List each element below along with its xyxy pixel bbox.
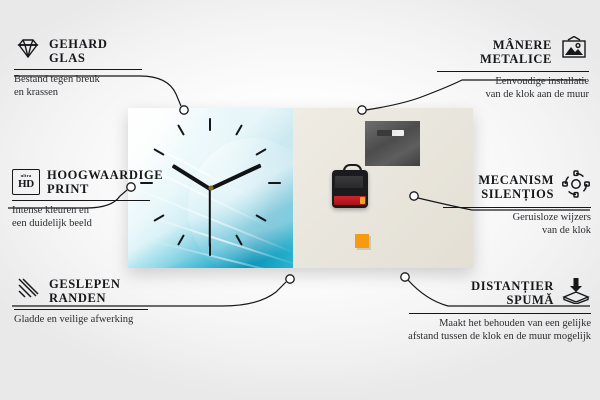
callout-desc-line1: Geruisloze wijzers	[391, 212, 591, 225]
battery-terminal	[360, 197, 365, 204]
callout-manere-metalice: MÂNERE METALICE Eenvoudige installatie v…	[389, 36, 589, 101]
ultra-hd-icon: ultra HD	[12, 169, 40, 195]
callout-gehard-glas: GEHARD GLAS Bestand tegen breuk en krass…	[14, 36, 189, 99]
foam-spacer	[355, 234, 369, 248]
hanger-slot	[377, 130, 404, 136]
callout-header: DISTANȚIER SPUMĂ	[361, 276, 591, 309]
movement-hook	[343, 164, 362, 175]
callout-header: ultra HD HOOGWAARDIGE PRINT	[12, 168, 197, 196]
callout-hoogwaardige-print: ultra HD HOOGWAARDIGE PRINT Intense kleu…	[12, 168, 197, 230]
callout-desc-line1: Maakt het behouden van een gelijke	[361, 318, 591, 331]
callout-title: GEHARD GLAS	[49, 37, 107, 65]
hour-tick	[268, 182, 281, 184]
clock-hub	[208, 186, 213, 191]
callout-header: MÂNERE METALICE	[389, 36, 589, 67]
metal-hanger-plate	[365, 121, 420, 166]
callout-desc-line1: Gladde en veilige afwerking	[14, 314, 204, 327]
hour-tick	[209, 118, 211, 131]
callout-desc-line2: afstand tussen de klok en de muur mogeli…	[361, 331, 591, 344]
callout-desc-line2: en krassen	[14, 87, 189, 100]
callout-rule	[12, 200, 150, 201]
hour-tick	[177, 234, 185, 245]
movement-label	[335, 176, 363, 188]
infographic-canvas: GEHARD GLAS Bestand tegen breuk en krass…	[0, 0, 600, 400]
clock-movement	[332, 170, 368, 208]
callout-geslepen-randen: GESLEPEN RANDEN Gladde en veilige afwerk…	[14, 276, 204, 327]
callout-desc-line1: Intense kleuren en	[12, 205, 197, 218]
callout-mecanism-silentios: MECANISM SILENȚIOS Geruisloze wijzers va…	[391, 170, 591, 237]
callout-rule	[437, 71, 589, 72]
bevel-lines-icon	[14, 276, 42, 305]
callout-title: MÂNERE METALICE	[480, 38, 552, 66]
callout-title: HOOGWAARDIGE PRINT	[47, 168, 163, 196]
diamond-icon	[14, 36, 42, 65]
second-hand	[209, 189, 211, 247]
callout-distantier-spuma: DISTANȚIER SPUMĂ Maakt het behouden van …	[361, 276, 591, 343]
callout-desc-line1: Eenvoudige installatie	[389, 76, 589, 89]
gear-icon	[561, 170, 591, 203]
callout-desc-line2: een duidelijk beeld	[12, 218, 197, 231]
battery	[334, 196, 366, 205]
callout-header: MECANISM SILENȚIOS	[391, 170, 591, 203]
callout-title: GESLEPEN RANDEN	[49, 277, 121, 305]
callout-title: DISTANȚIER SPUMĂ	[471, 279, 554, 307]
callout-desc-line1: Bestand tegen breuk	[14, 74, 189, 87]
callout-header: GESLEPEN RANDEN	[14, 276, 204, 305]
spacer-press-icon	[561, 276, 591, 309]
callout-dot-randen	[286, 275, 294, 283]
callout-rule	[443, 207, 591, 208]
picture-frame-icon	[559, 36, 589, 67]
callout-desc-line2: van de klok aan de muur	[389, 89, 589, 102]
callout-rule	[409, 313, 591, 314]
callout-rule	[14, 69, 142, 70]
callout-title: MECANISM SILENȚIOS	[478, 173, 554, 201]
callout-desc-line2: van de klok	[391, 225, 591, 238]
callout-header: GEHARD GLAS	[14, 36, 189, 65]
callout-rule	[14, 309, 148, 310]
